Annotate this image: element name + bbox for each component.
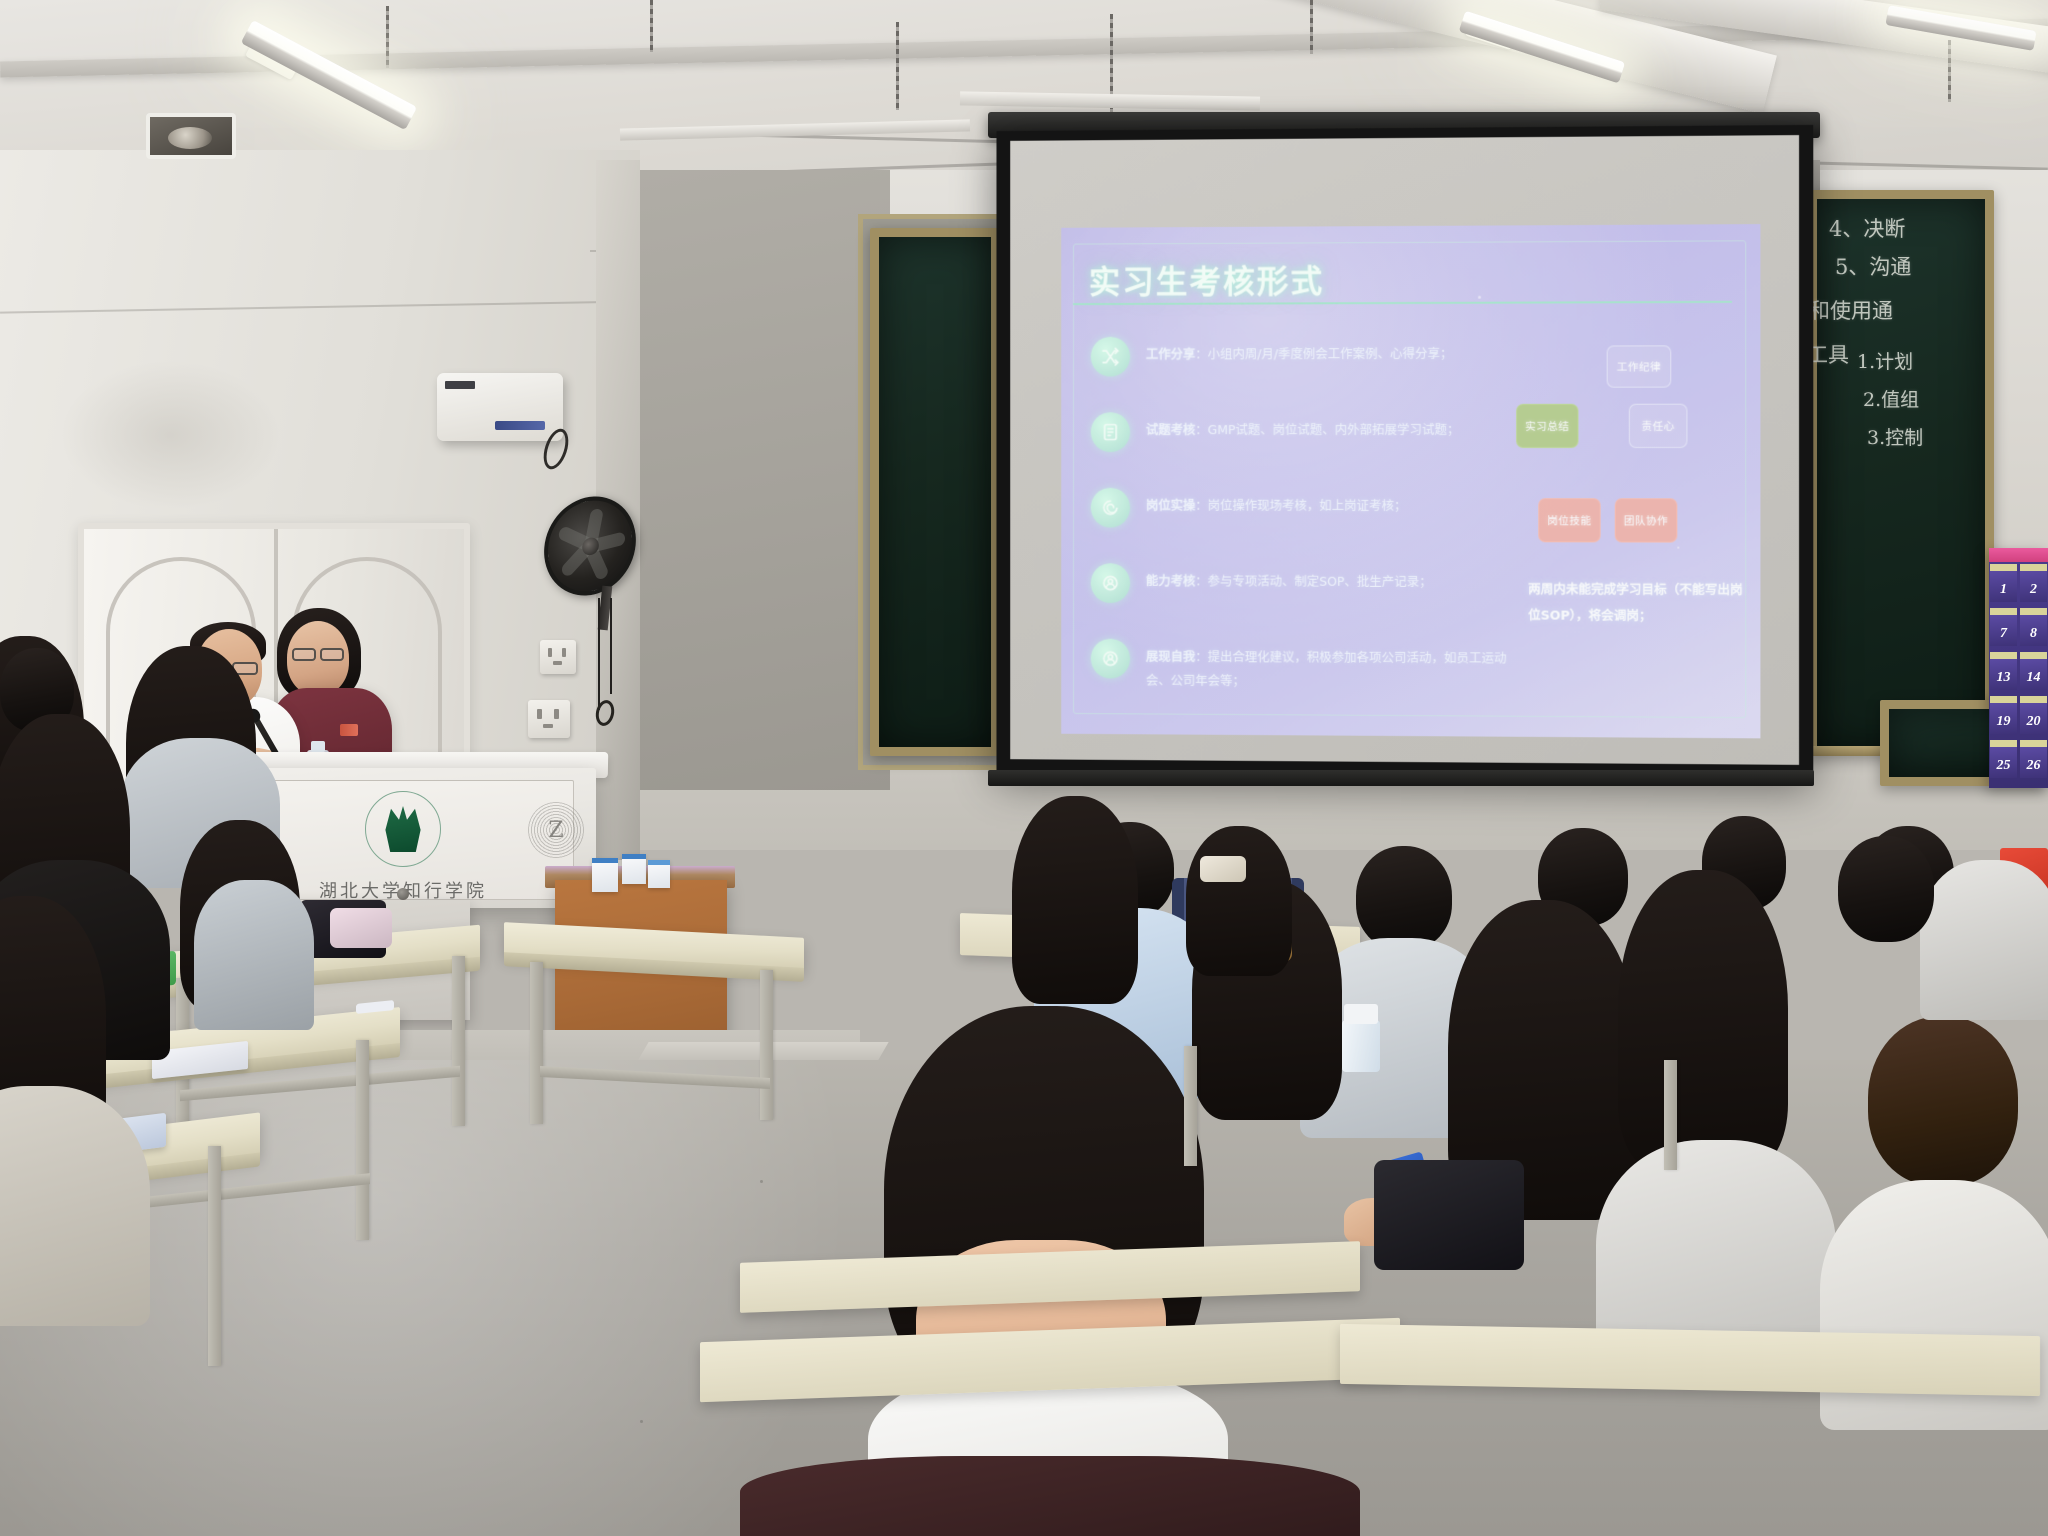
outlet-slot	[562, 648, 566, 657]
pocket-slot: 8	[2020, 608, 2047, 646]
slide-bullet-label: 工作分享	[1146, 347, 1195, 362]
dust-speck	[1478, 296, 1481, 299]
chalk-text: 1.计划	[1857, 347, 1913, 374]
slide-tag: 工作纪律	[1607, 345, 1672, 387]
slide-tag: 实习总结	[1516, 404, 1578, 448]
slide-bullet-item: 展现自我：提出合理化建议，积极参加各项公司活动，如员工运动会、公司年会等；	[1083, 633, 1510, 711]
slide-bullet-item: 岗位实操：岗位操作现场考核，如上岗证考核；	[1083, 482, 1510, 558]
chalk-text: 5、沟通	[1835, 251, 1911, 281]
slide-title: 实习生考核形式	[1089, 256, 1324, 303]
slide-bullet-text: 能力考核：参与专项活动、制定SOP、批生产记录；	[1146, 569, 1514, 594]
pocket-slot: 13	[1990, 652, 2017, 690]
desk-leg	[760, 970, 773, 1120]
slide-bullet-body: 参与专项活动、制定SOP、批生产记录；	[1208, 573, 1432, 589]
slide-bullet-sep: ：	[1195, 346, 1207, 361]
light-chain	[1948, 40, 1951, 102]
podium-knob[interactable]	[397, 888, 409, 900]
tissue-box	[592, 858, 618, 892]
document-icon	[1091, 412, 1130, 452]
student-body	[740, 1456, 1360, 1536]
floor-speck	[640, 1420, 643, 1423]
projection-surface: 实习生考核形式 工作分享：小组内周/月/季度例会工作案例、心得分享；	[1010, 135, 1799, 765]
slide-title-area: 实习生考核形式	[1073, 240, 1732, 305]
slide-bullet-text: 岗位实操：岗位操作现场考核，如上岗证考核；	[1146, 494, 1514, 518]
chalk-text: 4、决断	[1829, 213, 1905, 243]
projector-screen: 实习生考核形式 工作分享：小组内周/月/季度例会工作案例、心得分享；	[996, 125, 1813, 779]
wall-panel	[640, 170, 890, 790]
shirt-logo	[340, 724, 358, 736]
slide-bullet-label: 展现自我	[1146, 649, 1195, 664]
pocket-chart-header	[1989, 548, 2048, 562]
fan-pull-cord	[598, 598, 600, 710]
wall-fan[interactable]	[543, 498, 637, 594]
chalk-text: 3.控制	[1867, 423, 1923, 450]
slide-note: 两周内未能完成学习目标（不能写出岗位SOP），将会调岗；	[1528, 576, 1748, 628]
shuffle-icon	[1091, 337, 1130, 377]
desk-leg	[1184, 1046, 1197, 1166]
hair-clip	[1200, 856, 1246, 882]
power-outlet[interactable]	[528, 700, 570, 738]
slide-bullet-item: 工作分享：小组内周/月/季度例会工作案例、心得分享；	[1083, 330, 1510, 407]
light-chain	[650, 0, 653, 52]
tissue-box	[648, 860, 670, 888]
slide-bullet-sep: ：	[1195, 498, 1207, 513]
pocket-slot: 2	[2020, 564, 2047, 602]
person-icon	[1091, 639, 1130, 679]
desk-leg	[452, 956, 465, 1126]
student-head	[1868, 1016, 2018, 1186]
slide-tag: 团队协作	[1615, 498, 1678, 542]
lecture-desk	[504, 922, 804, 972]
slide-tag: 责任心	[1629, 404, 1688, 448]
swirl-icon	[1091, 488, 1130, 528]
dust-speck	[1677, 547, 1679, 549]
eyeglasses	[292, 648, 316, 661]
slide-bullet-sep: ：	[1195, 573, 1207, 588]
backpack	[1374, 1160, 1524, 1270]
chalk-text: 和使用通	[1809, 295, 1893, 325]
floor-speck	[760, 1180, 763, 1183]
water-bottle	[1342, 1020, 1380, 1072]
door-intercom-plate	[146, 113, 236, 159]
pocket-slot: 19	[1990, 696, 2017, 734]
pocket-slot: 7	[1990, 608, 2017, 646]
desk-leg	[1664, 1060, 1677, 1170]
slide-bullet-item: 能力考核：参与专项活动、制定SOP、批生产记录；	[1083, 557, 1510, 634]
target-icon	[1091, 563, 1130, 603]
slide-bullet-text: 展现自我：提出合理化建议，积极参加各项公司活动，如员工运动会、公司年会等；	[1146, 645, 1514, 694]
outlet-slot	[543, 724, 553, 728]
eyeglasses	[320, 648, 344, 661]
slide-bullet-label: 岗位实操	[1146, 498, 1195, 513]
power-outlet[interactable]	[540, 640, 576, 674]
bottle-cap	[1344, 1004, 1378, 1024]
student-head	[1356, 846, 1452, 950]
dust-speck	[1358, 656, 1361, 659]
control-panel-label	[445, 381, 475, 389]
podium-seal-right: Z	[528, 802, 584, 858]
slide-bullet-label: 试题考核	[1146, 422, 1195, 437]
wall-control-panel[interactable]	[437, 373, 563, 441]
outlet-slot	[537, 709, 542, 719]
student-hair	[1012, 796, 1138, 1004]
slide-bullet-body: 小组内周/月/季度例会工作案例、心得分享；	[1208, 346, 1453, 362]
pocket-slot: 26	[2020, 740, 2047, 778]
slide-bullet-label: 能力考核	[1146, 573, 1195, 588]
light-chain	[386, 6, 389, 68]
chalkboard-left	[870, 228, 1000, 756]
projector-screen-bottom-bar	[988, 770, 1814, 786]
pocket-slot: 14	[2020, 652, 2047, 690]
outlet-slot	[548, 648, 552, 657]
pocket-slot: 25	[1990, 740, 2017, 778]
student-head	[1838, 836, 1934, 942]
control-panel-indicator	[495, 421, 545, 430]
classroom-scene: 4、决断 5、沟通 和使用通 工具 1.计划 2.值组 3.控制 实习生考核形式	[0, 0, 2048, 1536]
slide-tag: 岗位技能	[1538, 498, 1600, 542]
slide-bullet-item: 试题考核：GMP试题、岗位试题、内外部拓展学习试题；	[1083, 406, 1510, 482]
outlet-slot	[553, 661, 562, 665]
slide-bullet-sep: ：	[1195, 649, 1207, 664]
light-chain	[1310, 0, 1313, 54]
chalk-text: 2.值组	[1863, 385, 1919, 412]
student-hair	[1618, 870, 1788, 1170]
outlet-slot	[554, 709, 559, 719]
slide-bullet-text: 试题考核：GMP试题、岗位试题、内外部拓展学习试题；	[1146, 418, 1514, 442]
slide-bullet-body: GMP试题、岗位试题、内外部拓展学习试题；	[1208, 422, 1460, 437]
lecture-bench	[1340, 1324, 2040, 1396]
pocket-slot: 20	[2020, 696, 2047, 734]
presentation-slide: 实习生考核形式 工作分享：小组内周/月/季度例会工作案例、心得分享；	[1061, 224, 1760, 738]
light-chain	[896, 22, 899, 110]
chalkboard-right: 4、决断 5、沟通 和使用通 工具 1.计划 2.值组 3.控制	[1808, 190, 1994, 756]
pocket-slot: 1	[1990, 564, 2017, 602]
slide-bullet-list: 工作分享：小组内周/月/季度例会工作案例、心得分享； 试题考核：GMP试题、岗位…	[1083, 330, 1510, 711]
fan-pull-cord	[610, 598, 612, 694]
chalk-text: 工具	[1807, 339, 1849, 369]
student-body	[194, 880, 314, 1030]
fan-cage	[539, 486, 640, 605]
desk-leg	[208, 1146, 221, 1366]
student-body	[1920, 860, 2048, 1020]
university-emblem	[365, 791, 441, 867]
tissue-box	[622, 854, 646, 884]
student-hair	[1186, 826, 1292, 976]
emblem-graphic	[383, 806, 423, 852]
jacket-on-desk	[330, 908, 392, 948]
desk-leg	[356, 1040, 369, 1240]
slide-bullet-text: 工作分享：小组内周/月/季度例会工作案例、心得分享；	[1146, 342, 1514, 367]
desk-leg	[530, 962, 543, 1124]
slide-bullet-body: 岗位操作现场考核，如上岗证考核；	[1208, 498, 1407, 513]
wall-pocket-organizer: 1 2 7 8 13 14 19 20 25 26	[1989, 548, 2048, 788]
wall-smudge	[60, 360, 280, 510]
slide-bullet-sep: ：	[1195, 422, 1207, 437]
